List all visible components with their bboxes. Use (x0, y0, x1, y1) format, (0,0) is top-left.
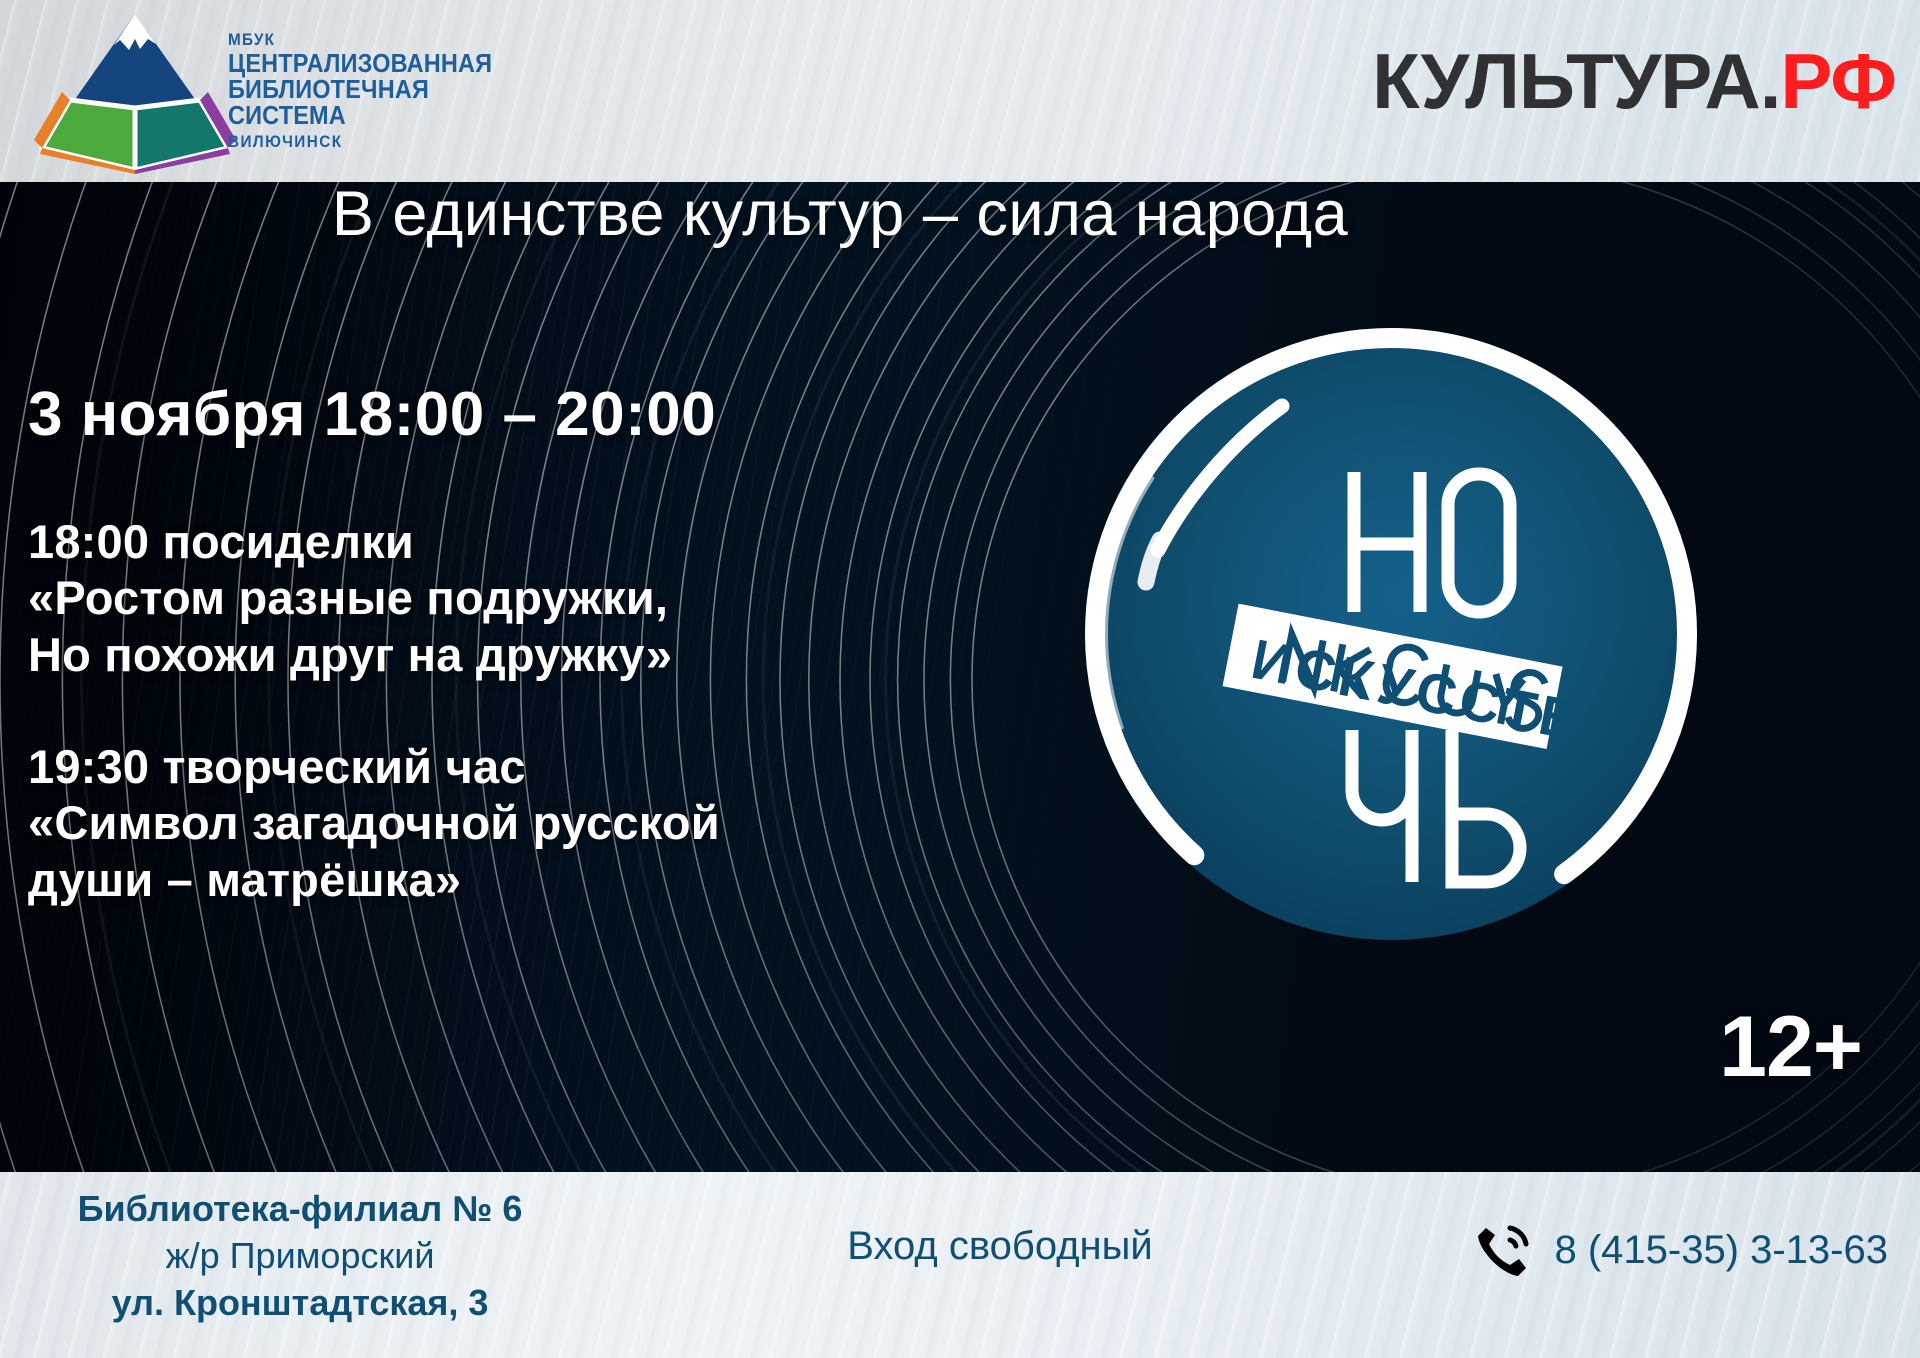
phone-number: 8 (415-35) 3-13-63 (1554, 1228, 1888, 1273)
program-item-2-line-2: «Символ загадочной русской (28, 795, 1098, 851)
phone-contact[interactable]: 8 (415-35) 3-13-63 (1472, 1218, 1888, 1282)
event-poster: МБУК ЦЕНТРАЛИЗОВАННАЯ БИБЛИОТЕЧНАЯ СИСТЕ… (0, 0, 1920, 1358)
program-copy: 3 ноября 18:00 – 20:00 18:00 посиделки «… (28, 382, 1098, 908)
library-logo-text: МБУК ЦЕНТРАЛИЗОВАННАЯ БИБЛИОТЕЧНАЯ СИСТЕ… (228, 31, 558, 151)
event-date-time: 3 ноября 18:00 – 20:00 (28, 382, 1098, 448)
kultura-rf-domain: РФ (1780, 37, 1896, 125)
library-logo-line-1: МБУК (228, 31, 525, 48)
footer-band: Библиотека-филиал № 6 ж/р Приморский ул.… (0, 1172, 1920, 1358)
night-of-arts-logo-icon: ИСКУССТВ (1046, 282, 1736, 972)
phone-ringing-icon (1472, 1218, 1536, 1282)
program-item-2: 19:30 творческий час «Символ загадочной … (28, 739, 1098, 908)
library-logo-line-4: ВИЛЮЧИНСК (228, 133, 525, 150)
program-item-1-line-1: 18:00 посиделки (28, 514, 1098, 570)
venue-district: ж/р Приморский (40, 1233, 560, 1280)
program-item-1-line-3: Но похожи друг на дружку» (28, 627, 1098, 683)
header-band: МБУК ЦЕНТРАЛИЗОВАННАЯ БИБЛИОТЕЧНАЯ СИСТЕ… (0, 0, 1920, 182)
venue-name: Библиотека-филиал № 6 (40, 1186, 560, 1233)
kultura-rf-main: КУЛЬТУРА. (1372, 37, 1780, 125)
library-logo-line-3: БИБЛИОТЕЧНАЯ СИСТЕМА (228, 77, 532, 129)
kultura-rf-logo: КУЛЬТУРА.РФ (1372, 36, 1896, 127)
entry-info: Вход свободный (740, 1224, 1260, 1269)
program-item-1-line-2: «Ростом разные подружки, (28, 570, 1098, 626)
program-item-2-line-3: души – матрёшка» (28, 852, 1098, 908)
age-rating-badge: 12+ (1719, 998, 1862, 1097)
program-item-2-line-1: 19:30 творческий час (28, 739, 1098, 795)
mountain-book-logo-icon (32, 8, 238, 174)
venue-street: ул. Кронштадтская, 3 (40, 1280, 560, 1327)
venue-address: Библиотека-филиал № 6 ж/р Приморский ул.… (40, 1186, 560, 1326)
library-logo-line-2: ЦЕНТРАЛИЗОВАННАЯ (228, 51, 532, 77)
program-item-1: 18:00 посиделки «Ростом разные подружки,… (28, 514, 1098, 683)
poster-headline: В единстве культур – сила народа (0, 178, 1680, 250)
